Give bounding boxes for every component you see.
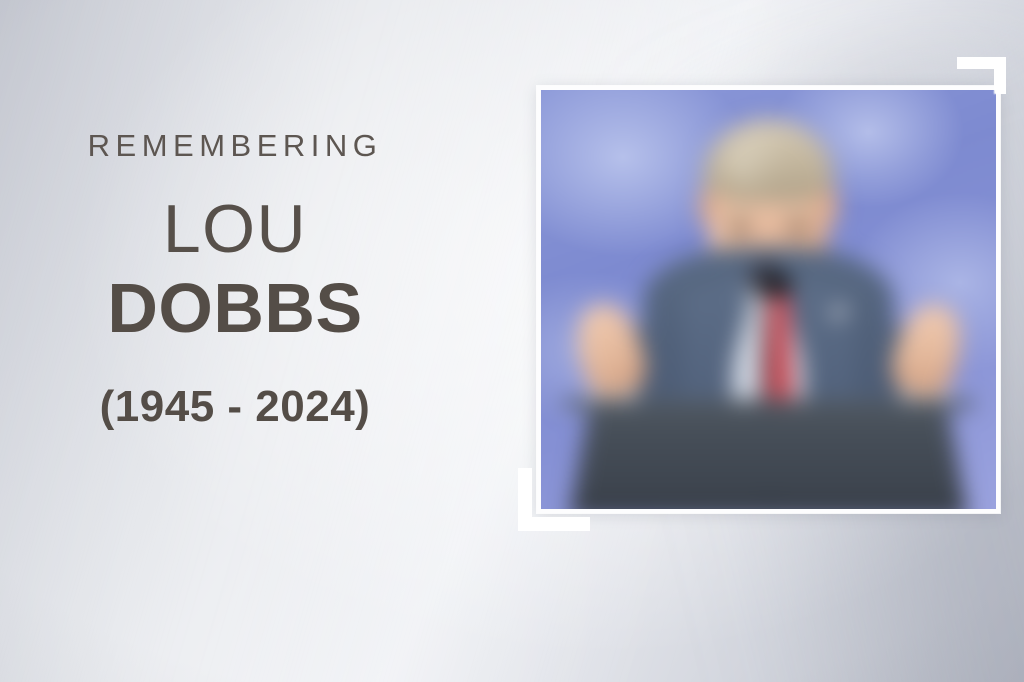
podium-top-edge xyxy=(564,399,973,410)
subject-last-name: DOBBS xyxy=(0,273,470,343)
photo-frame xyxy=(537,86,1000,513)
remembering-kicker: REMEMBERING xyxy=(0,130,470,161)
memorial-graphic: REMEMBERING LOU DOBBS (1945 - 2024) xyxy=(0,0,1024,682)
bracket-arm-vertical xyxy=(518,468,532,531)
bracket-arm-horizontal xyxy=(957,57,1006,69)
eyebrow-right xyxy=(785,211,810,220)
subject-photo xyxy=(541,90,996,509)
hair-highlight xyxy=(727,137,795,192)
bracket-arm-horizontal xyxy=(518,517,590,531)
eyebrow-left xyxy=(727,211,752,220)
life-dates: (1945 - 2024) xyxy=(0,385,470,429)
subject-first-name: LOU xyxy=(0,195,470,263)
podium-marking xyxy=(764,499,775,504)
eye-left xyxy=(731,225,749,234)
podium xyxy=(569,409,968,509)
microphone-stem xyxy=(761,280,766,412)
eye-right xyxy=(788,225,806,234)
photo-contents xyxy=(541,90,996,509)
memorial-text-block: REMEMBERING LOU DOBBS (1945 - 2024) xyxy=(0,130,470,429)
